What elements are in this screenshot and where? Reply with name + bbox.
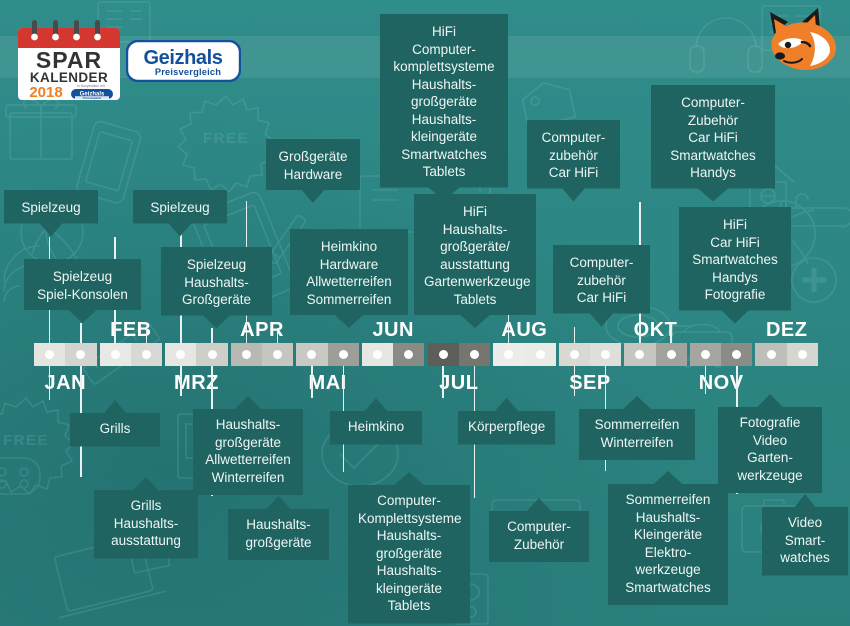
timeline-segment[interactable] (34, 343, 65, 366)
timeline-dot[interactable] (798, 350, 807, 359)
timeline-dot[interactable] (208, 350, 217, 359)
svg-text:in Kooperation mit: in Kooperation mit (77, 84, 104, 88)
timeline-month-mrz[interactable] (165, 343, 228, 366)
timeline-dot[interactable] (470, 350, 479, 359)
timeline-bar[interactable] (34, 343, 818, 366)
month-label-okt: OKT (611, 319, 701, 342)
month-label-sep: SEP (545, 372, 635, 395)
timeline-dot[interactable] (273, 350, 282, 359)
timeline-month-jan[interactable] (34, 343, 97, 366)
geizhals-logo[interactable]: Geizhals Preisvergleich (126, 40, 241, 82)
timeline-dot[interactable] (439, 350, 448, 359)
timeline-dot[interactable] (667, 350, 676, 359)
timeline-segment[interactable] (656, 343, 687, 366)
timeline-segment[interactable] (524, 343, 555, 366)
month-label-jan: JAN (20, 372, 110, 395)
timeline-segment[interactable] (493, 343, 524, 366)
month-label-jul: JUL (414, 372, 504, 395)
timeline-dot[interactable] (404, 350, 413, 359)
month-label-nov: NOV (676, 372, 766, 395)
category-box-b-mai-b[interactable]: Computer- Komplettsysteme Haushalts- gro… (348, 472, 470, 624)
category-box-b-mrz-a[interactable]: Haushalts- großgeräte Allwetterreifen Wi… (193, 396, 303, 495)
timeline-segment[interactable] (262, 343, 293, 366)
timeline-segment[interactable] (590, 343, 621, 366)
month-label-apr: APR (217, 319, 307, 342)
timeline-segment[interactable] (65, 343, 96, 366)
infographic-canvas: FREE FREE (0, 0, 850, 626)
svg-text:Preisvergleich: Preisvergleich (83, 96, 102, 100)
timeline-segment[interactable] (362, 343, 393, 366)
geizhals-tagline: Preisvergleich (155, 67, 221, 77)
timeline-segment[interactable] (459, 343, 490, 366)
timeline-segment[interactable] (690, 343, 721, 366)
fox-mascot-icon (762, 6, 840, 80)
timeline-month-jul[interactable] (428, 343, 491, 366)
connector-line (670, 324, 672, 343)
category-box-apr-a[interactable]: HiFi Computer- komplettsysteme Haushalts… (380, 14, 508, 201)
timeline-segment[interactable] (296, 343, 327, 366)
timeline-dot[interactable] (732, 350, 741, 359)
timeline-dot[interactable] (601, 350, 610, 359)
connector-line (574, 366, 576, 396)
timeline-dot[interactable] (242, 350, 251, 359)
timeline-dot[interactable] (45, 350, 54, 359)
connector-line (311, 366, 313, 398)
category-box-mrz-b[interactable]: Heimkino Hardware Allwetterreifen Sommer… (290, 229, 408, 328)
timeline-month-jun[interactable] (362, 343, 425, 366)
category-box-okt-a[interactable]: Computer- Zubehör Car HiFi Smartwatches … (651, 85, 775, 202)
timeline-dot[interactable] (635, 350, 644, 359)
spar-kalender-logo: SPAR KALENDER 2018 in Kooperation mit Ge… (16, 18, 122, 102)
timeline-month-feb[interactable] (100, 343, 163, 366)
timeline-dot[interactable] (307, 350, 316, 359)
category-box-b-sep-b[interactable]: Sommerreifen Haushalts- Kleingeräte Elek… (608, 471, 728, 605)
timeline-month-aug[interactable] (493, 343, 556, 366)
timeline-segment[interactable] (393, 343, 424, 366)
timeline-dot[interactable] (339, 350, 348, 359)
year-word: 2018 (29, 84, 62, 101)
month-label-aug: AUG (479, 319, 569, 342)
connector-line (705, 366, 707, 394)
svg-text:FREE: FREE (3, 432, 49, 449)
timeline-dot[interactable] (76, 350, 85, 359)
timeline-segment[interactable] (328, 343, 359, 366)
connector-line (49, 366, 51, 400)
timeline-month-dez[interactable] (755, 343, 818, 366)
timeline-segment[interactable] (196, 343, 227, 366)
timeline-dot[interactable] (767, 350, 776, 359)
timeline-dot[interactable] (536, 350, 545, 359)
category-box-b-nov-a[interactable]: Fotografie Video Garten- werkzeuge (718, 394, 822, 493)
timeline-dot[interactable] (570, 350, 579, 359)
timeline-dot[interactable] (111, 350, 120, 359)
month-label-jun: JUN (348, 319, 438, 342)
timeline-dot[interactable] (701, 350, 710, 359)
timeline-dot[interactable] (142, 350, 151, 359)
timeline-segment[interactable] (165, 343, 196, 366)
timeline-segment[interactable] (131, 343, 162, 366)
timeline-month-sep[interactable] (559, 343, 622, 366)
geizhals-wordmark: Geizhals (143, 47, 222, 69)
timeline-segment[interactable] (559, 343, 590, 366)
connector-line (574, 327, 576, 343)
timeline-segment[interactable] (428, 343, 459, 366)
month-label-feb: FEB (86, 319, 176, 342)
connector-line (211, 328, 213, 343)
timeline-segment[interactable] (231, 343, 262, 366)
connector-line (277, 328, 279, 343)
timeline-segment[interactable] (721, 343, 752, 366)
timeline-segment[interactable] (100, 343, 131, 366)
connector-line (180, 366, 182, 396)
timeline-segment[interactable] (755, 343, 786, 366)
category-box-okt-b[interactable]: HiFi Car HiFi Smartwatches Handys Fotogr… (679, 207, 791, 324)
timeline-month-apr[interactable] (231, 343, 294, 366)
timeline-dot[interactable] (373, 350, 382, 359)
kalender-word: KALENDER (30, 70, 108, 85)
timeline-month-mai[interactable] (296, 343, 359, 366)
month-label-mai: MAI (283, 372, 373, 395)
connector-line (80, 323, 82, 343)
timeline-month-nov[interactable] (690, 343, 753, 366)
timeline-dot[interactable] (176, 350, 185, 359)
connector-line (146, 329, 148, 343)
month-label-mrz: MRZ (151, 372, 241, 395)
timeline-segment[interactable] (624, 343, 655, 366)
timeline-month-okt[interactable] (624, 343, 687, 366)
svg-text:FREE: FREE (203, 130, 249, 147)
month-label-dez: DEZ (742, 319, 832, 342)
connector-line (442, 366, 444, 398)
category-box-apr-b[interactable]: HiFi Haushalts- großgeräte/ ausstattung … (414, 194, 536, 328)
timeline-dot[interactable] (504, 350, 513, 359)
timeline-segment[interactable] (787, 343, 818, 366)
